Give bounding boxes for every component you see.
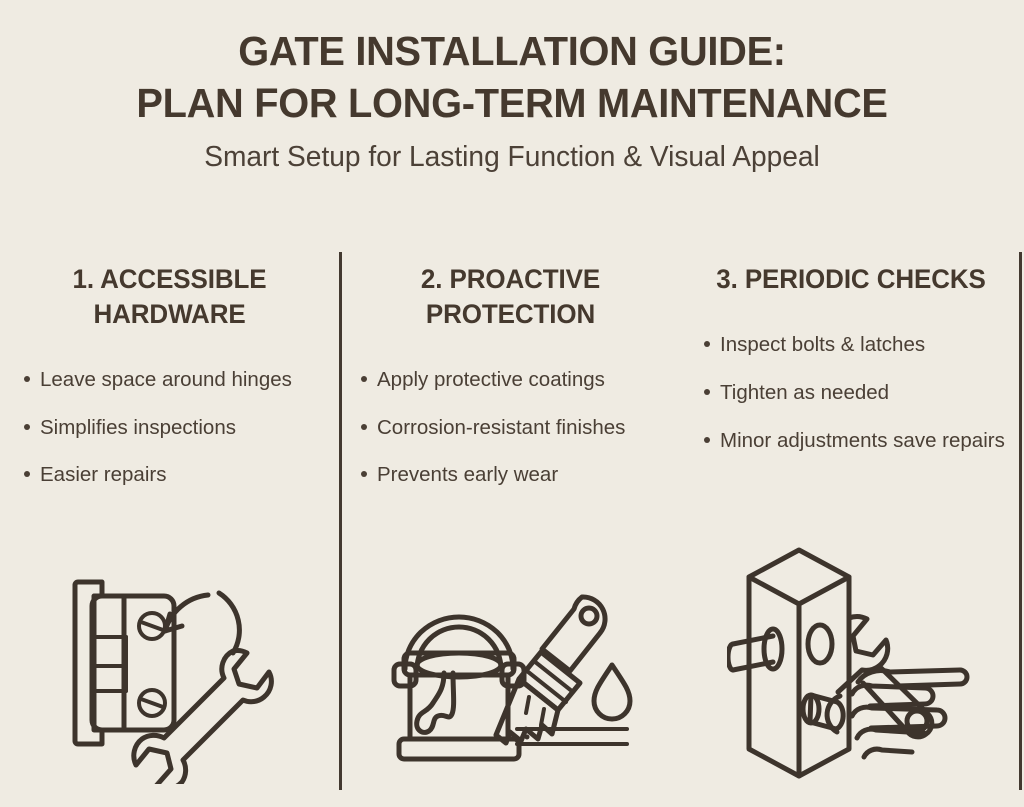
- list-item: Corrosion-resistant finishes: [359, 412, 674, 444]
- list-item: Inspect bolts & latches: [702, 329, 1016, 361]
- columns-container: 1. ACCESSIBLE HARDWARE Leave space aroun…: [0, 252, 1024, 792]
- poster-header: GATE INSTALLATION GUIDE: PLAN FOR LONG-T…: [0, 26, 1024, 175]
- column-periodic-checks: 3. PERIODIC CHECKS Inspect bolts & latch…: [680, 252, 1024, 792]
- poster-subtitle: Smart Setup for Lasting Function & Visua…: [15, 140, 1008, 175]
- poster-title-line-1: GATE INSTALLATION GUIDE:: [15, 26, 1008, 78]
- infographic-poster: GATE INSTALLATION GUIDE: PLAN FOR LONG-T…: [0, 0, 1024, 807]
- paint-can-brush-icon: [386, 569, 636, 784]
- hinge-wrench-illustration: [0, 569, 341, 784]
- list-item: Tighten as needed: [702, 377, 1016, 409]
- post-bolts-wrench-icon: [727, 544, 977, 784]
- list-item: Apply protective coatings: [359, 364, 674, 396]
- column-1-heading: 1. ACCESSIBLE HARDWARE: [3, 252, 337, 332]
- column-3-heading: 3. PERIODIC CHECKS: [683, 252, 1020, 297]
- paint-can-brush-illustration: [341, 569, 680, 784]
- list-item: Prevents early wear: [359, 459, 674, 491]
- column-2-bullet-list: Apply protective coatings Corrosion-resi…: [341, 364, 680, 491]
- post-bolts-hand-wrench-illustration: [680, 544, 1024, 784]
- list-item: Simplifies inspections: [22, 412, 337, 444]
- column-accessible-hardware: 1. ACCESSIBLE HARDWARE Leave space aroun…: [0, 252, 341, 792]
- list-item: Easier repairs: [22, 459, 337, 491]
- list-item: Leave space around hinges: [22, 364, 337, 396]
- column-3-bullet-list: Inspect bolts & latches Tighten as neede…: [680, 329, 1024, 456]
- column-2-heading: 2. PROACTIVE PROTECTION: [344, 252, 676, 332]
- poster-title-line-2: PLAN FOR LONG-TERM MAINTENANCE: [15, 78, 1008, 130]
- column-1-bullet-list: Leave space around hinges Simplifies ins…: [0, 364, 341, 491]
- column-proactive-protection: 2. PROACTIVE PROTECTION Apply protective…: [341, 252, 680, 792]
- list-item: Minor adjustments save repairs: [702, 425, 1016, 457]
- hinge-wrench-icon: [56, 569, 286, 784]
